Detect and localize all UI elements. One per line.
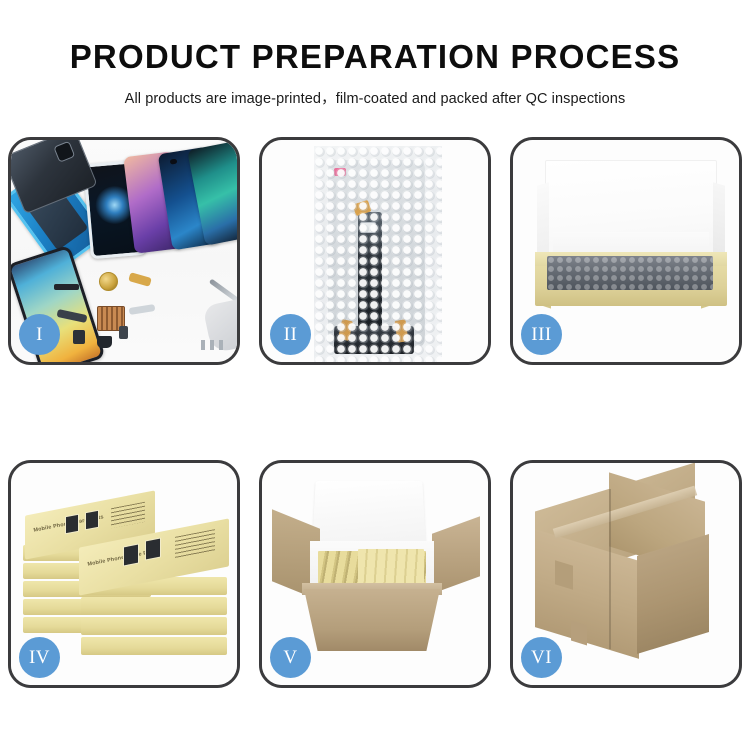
flex-cable-gold-part (128, 272, 152, 287)
process-step-3: III (510, 137, 742, 365)
retail-box-window-front-1 (123, 543, 139, 566)
step-badge-5: V (270, 637, 311, 678)
process-step-2: II (259, 137, 491, 365)
retail-box-window-back-1 (65, 514, 79, 535)
speaker-coil-part (99, 272, 118, 291)
screws-group (201, 340, 227, 350)
small-component-2 (97, 336, 112, 348)
carton-tab-upper (555, 560, 573, 590)
process-step-5: V (259, 460, 491, 688)
header: PRODUCT PREPARATION PROCESS All products… (0, 0, 750, 108)
page-subtitle: All products are image-printed，film-coat… (0, 87, 750, 108)
step-badge-4: IV (19, 637, 60, 678)
carton-side-face (637, 534, 709, 654)
flex-cable-silver-part (129, 304, 156, 315)
product-preparation-infographic: PRODUCT PREPARATION PROCESS All products… (0, 0, 750, 750)
step-badge-3: III (521, 314, 562, 355)
bubble-wrapped-contents (547, 256, 713, 290)
carton-corner-seam (609, 489, 611, 649)
retail-box-slab-9 (81, 637, 227, 655)
page-title: PRODUCT PREPARATION PROCESS (0, 38, 750, 76)
step-badge-1: I (19, 314, 60, 355)
step-badge-2: II (270, 314, 311, 355)
earpiece-bar-part (54, 284, 79, 290)
bubble-wrap-texture (314, 146, 442, 362)
process-step-6: VI (510, 460, 742, 688)
retail-box-slab-7 (81, 597, 227, 615)
foam-lid-open (312, 481, 425, 545)
carton-body (304, 589, 440, 651)
small-component-3 (119, 326, 128, 339)
process-step-grid: I II (8, 137, 742, 697)
tweezers-tool (209, 278, 237, 302)
retail-box-window-front-2 (145, 537, 161, 560)
retail-box-window-back-2 (85, 510, 99, 531)
carton-tab-lower (571, 621, 587, 646)
step-badge-6: VI (521, 637, 562, 678)
process-step-1: I (8, 137, 240, 365)
retail-box-slab-8 (81, 617, 227, 635)
small-component-1 (73, 330, 85, 344)
process-step-4: Mobile Phone Spare Parts Mobile Phone Sp… (8, 460, 240, 688)
